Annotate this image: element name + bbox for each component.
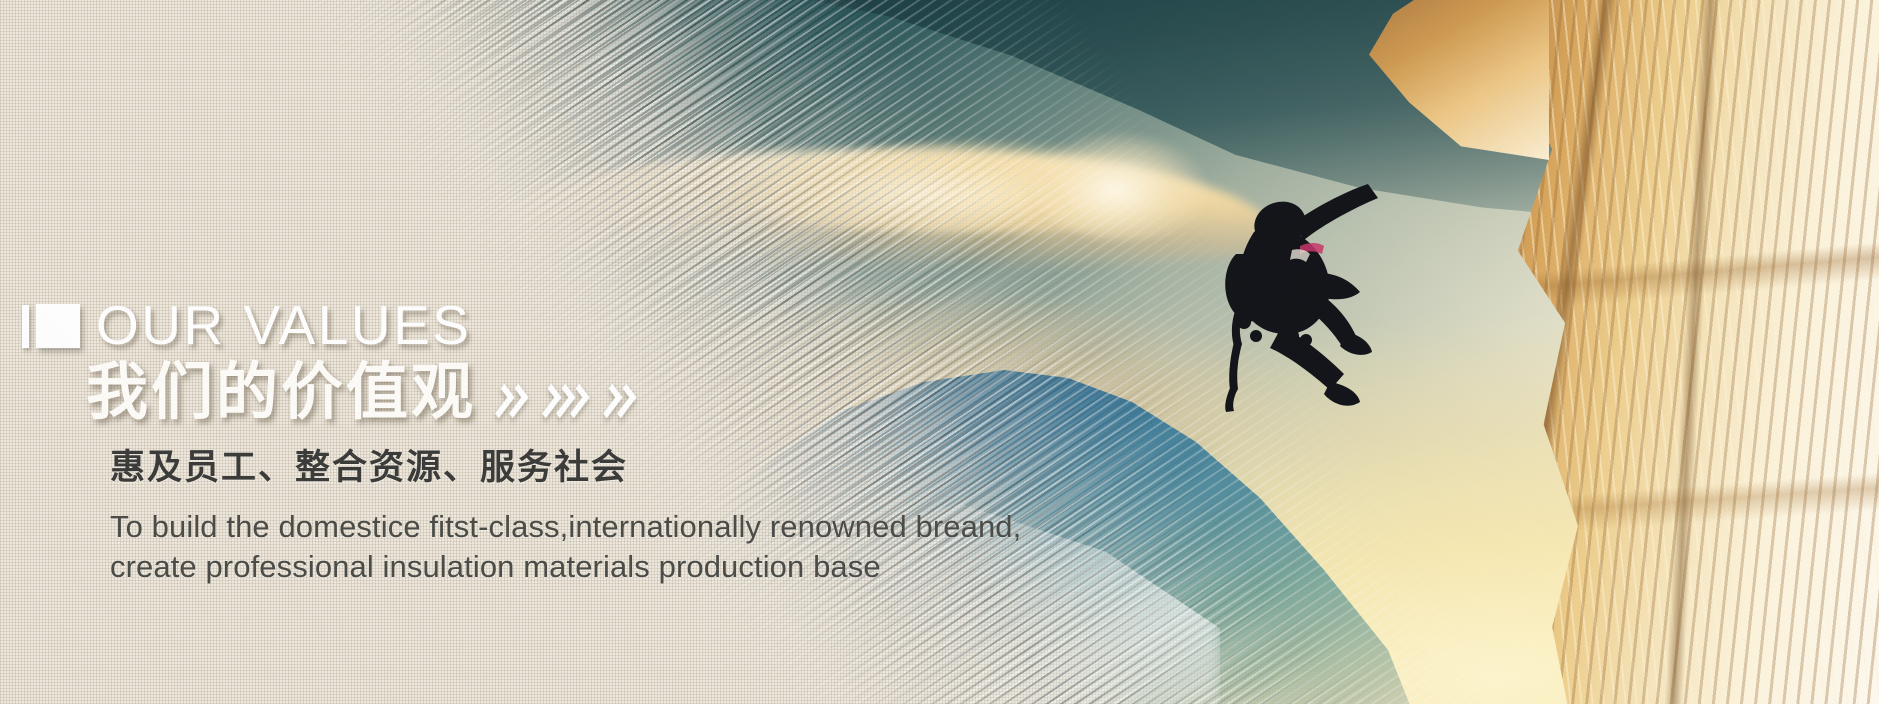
tagline-line-2: create professional insulation materials…: [110, 548, 1182, 586]
bullet-square: [36, 304, 80, 348]
chevron-group-1: [496, 388, 524, 414]
tagline-en: To build the domestice fitst-class,inter…: [110, 508, 1182, 587]
page-title-en: OUR VALUES: [96, 298, 471, 353]
subtitle-cn: 惠及员工、整合资源、服务社会: [110, 439, 1182, 490]
chevron-group-2: [543, 388, 585, 414]
banner-copy: OUR VALUES 我们的价值观 惠及员工、整合资源、: [22, 296, 1182, 587]
bullet-bar: [22, 305, 29, 348]
chevron-arrows: [496, 388, 632, 414]
square-bullet-icon: [22, 304, 80, 348]
title-cn-row: 我们的价值观: [86, 360, 1182, 427]
tagline-line-1: To build the domestice fitst-class,inter…: [110, 508, 1182, 546]
title-en-row: OUR VALUES: [22, 296, 1182, 354]
page-title-cn: 我们的价值观: [86, 360, 476, 427]
rock-climber-silhouette: [1196, 150, 1436, 420]
chevron-group-3: [604, 388, 632, 414]
values-banner: OUR VALUES 我们的价值观 惠及员工、整合资源、: [0, 0, 1879, 704]
